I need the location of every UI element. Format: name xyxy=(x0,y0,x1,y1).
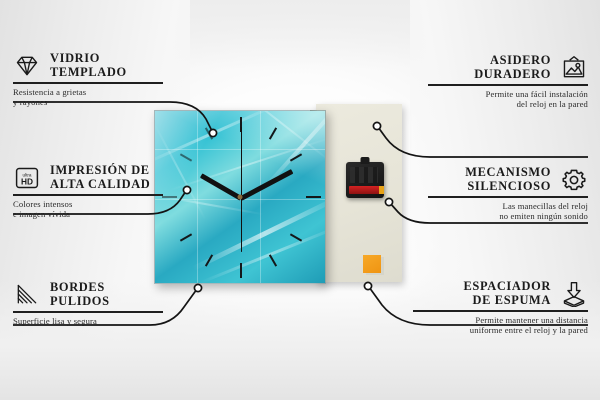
feature-title-line1: MECANISMO xyxy=(465,166,551,180)
feature-body-line1: Permite una fácil instalación xyxy=(428,89,588,99)
feature-title-line1: VIDRIO xyxy=(50,52,127,66)
feature-body-line1: Resistencia a grietas xyxy=(13,87,163,97)
feature-impresion-alta-calidad: ultra HD IMPRESIÓN DE ALTA CALIDAD Color… xyxy=(13,164,163,220)
ultra-hd-large-label: HD xyxy=(21,176,33,186)
feature-body-line1: Las manecillas del reloj xyxy=(428,201,588,211)
polished-edges-icon xyxy=(13,282,41,308)
feature-body-line1: Colores intensos xyxy=(13,199,163,209)
feature-body-line2: no emiten ningún sonido xyxy=(428,211,588,221)
feature-vidrio-templado: VIDRIO TEMPLADO Resistencia a grietas y … xyxy=(13,52,163,108)
feature-title-line1: IMPRESIÓN DE xyxy=(50,164,150,178)
connector-dot-asidero xyxy=(373,122,380,129)
feature-rule xyxy=(13,82,163,84)
connector-dot-impresion xyxy=(183,186,190,193)
feature-title-line1: ESPACIADOR xyxy=(463,280,551,294)
product-infographic: VIDRIO TEMPLADO Resistencia a grietas y … xyxy=(0,0,600,400)
feature-title-line1: ASIDERO xyxy=(474,54,551,68)
feature-body-line2: y rayones xyxy=(13,97,163,107)
diamond-icon xyxy=(13,53,41,79)
connector-dot-espaciador xyxy=(364,282,371,289)
foam-spacer-icon xyxy=(560,281,588,307)
feature-bordes-pulidos: BORDES PULIDOS Superficie lisa y segura xyxy=(13,281,163,326)
feature-body-line2: del reloj en la pared xyxy=(428,99,588,109)
feature-rule xyxy=(13,194,163,196)
connector-asidero xyxy=(378,127,588,157)
feature-body-line1: Permite mantener una distancia xyxy=(413,315,588,325)
feature-espaciador-de-espuma: ESPACIADOR DE ESPUMA Permite mantener un… xyxy=(413,280,588,336)
feature-title-line1: BORDES xyxy=(50,281,110,295)
feature-body-line2: uniforme entre el reloj y la pared xyxy=(413,325,588,335)
feature-rule xyxy=(428,196,588,198)
connector-dot-bordes xyxy=(194,284,201,291)
feature-rule xyxy=(428,84,588,86)
feature-rule xyxy=(13,311,163,313)
feature-title-line2: ALTA CALIDAD xyxy=(50,178,150,192)
connector-dot-vidrio xyxy=(209,129,216,136)
feature-title-line2: DURADERO xyxy=(474,68,551,82)
feature-body-line1: Superficie lisa y segura xyxy=(13,316,163,326)
feature-asidero-duradero: ASIDERO DURADERO Permite una fácil insta… xyxy=(428,54,588,110)
gear-icon xyxy=(560,167,588,193)
picture-hanger-icon xyxy=(560,55,588,81)
ultra-hd-icon: ultra HD xyxy=(13,165,41,191)
feature-title-line2: DE ESPUMA xyxy=(463,294,551,308)
feature-title-line2: PULIDOS xyxy=(50,295,110,309)
feature-title-line2: TEMPLADO xyxy=(50,66,127,80)
feature-rule xyxy=(413,310,588,312)
feature-mecanismo-silencioso: MECANISMO SILENCIOSO Las manecillas del … xyxy=(428,166,588,222)
feature-title-line2: SILENCIOSO xyxy=(465,180,551,194)
feature-body-line2: e imagen vívida xyxy=(13,209,163,219)
connector-dot-mecanismo xyxy=(385,198,392,205)
